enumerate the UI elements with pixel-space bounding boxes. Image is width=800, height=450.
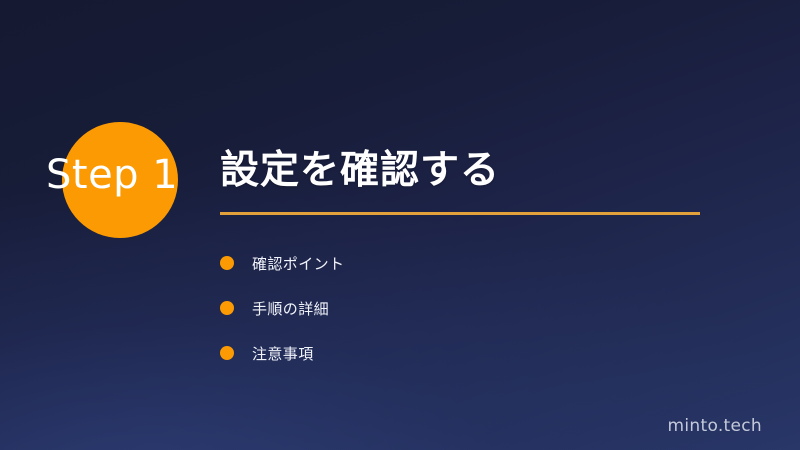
bullet-dot-icon (220, 346, 234, 360)
list-item: 確認ポイント (220, 241, 344, 286)
slide-title: 設定を確認する (220, 146, 500, 196)
presentation-slide: Step 1 設定を確認する 確認ポイント 手順の詳細 注意事項 minto.t… (0, 0, 800, 450)
bullet-dot-icon (220, 301, 234, 315)
bullet-dot-icon (220, 256, 234, 270)
bullet-item-label: 確認ポイント (252, 255, 344, 273)
step-label: Step 1 (46, 151, 196, 199)
list-item: 注意事項 (220, 331, 344, 376)
title-divider (220, 212, 700, 215)
bullet-list: 確認ポイント 手順の詳細 注意事項 (220, 241, 344, 376)
bullet-item-label: 手順の詳細 (252, 300, 329, 318)
watermark-brand: minto.tech (668, 415, 762, 437)
bullet-item-label: 注意事項 (252, 345, 314, 363)
list-item: 手順の詳細 (220, 286, 344, 331)
